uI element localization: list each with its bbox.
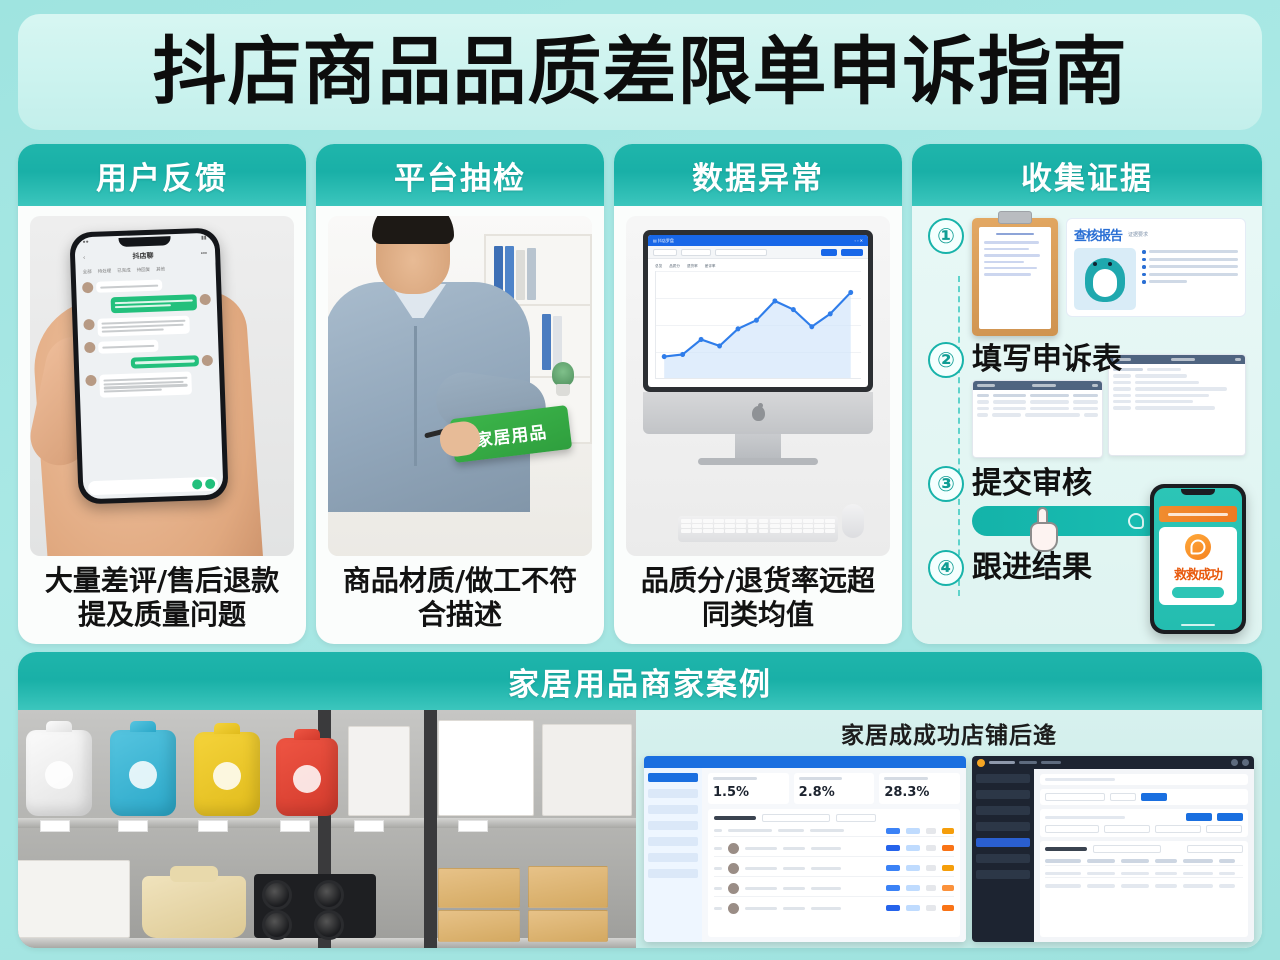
person-hair: [372, 216, 454, 244]
avatar: [202, 355, 213, 366]
sidebar-item-appeals[interactable]: [648, 837, 698, 846]
retail-shelf-products-photo: [18, 710, 636, 948]
avatar: [83, 318, 94, 329]
imac-stand-foot: [698, 458, 818, 465]
dashboard-tab-0[interactable]: 总览: [655, 264, 662, 269]
product-sign-label: 家居用品: [474, 417, 549, 451]
imac-analytics-chart-photo: ▤ 抖店罗盘 ▫ ▫ ✕: [626, 216, 890, 556]
plant-shape: [552, 362, 574, 386]
window-main: 1.5% 2.8% 28.3%: [644, 768, 966, 942]
success-phone-device: 救救成功: [1150, 484, 1246, 634]
product-jar-cyan: [110, 730, 176, 816]
stat-card: 1.5%: [708, 773, 789, 804]
plant-pot-shape: [556, 384, 570, 396]
table-row: [1045, 882, 1243, 889]
step-2-number: ②: [928, 342, 964, 378]
stat-cards-row: 1.5% 2.8% 28.3%: [708, 773, 960, 804]
page-title-panel: 抖店商品品质差限单申诉指南: [18, 14, 1262, 130]
step-4-label: 跟进结果: [972, 550, 1092, 586]
dashboard-tab-2[interactable]: 退货率: [687, 264, 698, 269]
export-button[interactable]: [841, 249, 863, 256]
date-pill[interactable]: [681, 249, 711, 256]
card-data-anomaly: 数据异常 ▤ 抖店罗盘 ▫ ▫ ✕: [614, 144, 902, 644]
product-package: [542, 724, 632, 816]
appeal-steps-illustration: ① 查核报告: [924, 216, 1250, 636]
tab-3[interactable]: 待回复: [137, 267, 151, 273]
stat-value: 1.5%: [713, 785, 784, 800]
chat-message: [83, 314, 212, 337]
window-body: [973, 390, 1102, 421]
success-banner: [1159, 506, 1237, 522]
table-filter-button[interactable]: [836, 814, 876, 822]
filter-select-3[interactable]: [1155, 825, 1201, 833]
step-1-number: ①: [928, 218, 964, 254]
evidence-report-card: 查核报告 证据要求: [1066, 218, 1246, 317]
penguin-eye-left: [1093, 262, 1097, 266]
phone-device: ●●▮▮ ‹ 抖店聊 ••• 全部 待处理 已完成 待回复 其他: [69, 227, 228, 504]
message-bubble: [97, 315, 190, 337]
step-2-artwork: [972, 380, 1246, 458]
tab-4[interactable]: 其他: [156, 266, 165, 272]
avatar: [200, 294, 211, 305]
cardboard-box: [438, 910, 520, 942]
sidebar-item-overview[interactable]: [976, 774, 1030, 783]
clipboard: [972, 218, 1058, 336]
shirt-buttons: [414, 326, 417, 466]
step-3-number: ③: [928, 466, 964, 502]
bullet-item: [1142, 250, 1238, 254]
dashboard-tab-3[interactable]: 差评率: [705, 264, 716, 269]
export-button[interactable]: [1217, 813, 1243, 821]
chat-message: [83, 294, 211, 314]
line-chart-svg: [656, 271, 861, 378]
table-row: [714, 841, 954, 857]
success-text: 救救成功: [1174, 564, 1222, 583]
breadcrumb-bar: [1040, 774, 1248, 785]
success-phone-screen: 救救成功: [1154, 488, 1242, 630]
appeal-admin-window: [972, 756, 1254, 942]
imac-device: ▤ 抖店罗盘 ▫ ▫ ✕: [643, 230, 873, 465]
filter-select-2[interactable]: [1104, 825, 1150, 833]
chat-app-title: 抖店聊: [132, 251, 153, 262]
table-row: [714, 881, 954, 897]
bullet-item: [1142, 280, 1238, 284]
table-row: [1045, 870, 1243, 878]
bullet-item: [1142, 273, 1238, 277]
cardboard-box: [438, 868, 520, 908]
send-button[interactable]: [192, 479, 202, 489]
sidebar-item-data[interactable]: [976, 854, 1030, 863]
chat-message: [84, 338, 212, 354]
card-caption: 品质分/退货率远超同类均值: [626, 556, 890, 636]
phone-notch: [1181, 489, 1215, 495]
line-chart: [655, 271, 861, 379]
table-row: [714, 826, 954, 837]
home-indicator: [1181, 624, 1215, 627]
case-study-header: 家居用品商家案例: [18, 652, 1262, 710]
case-study-header-label: 家居用品商家案例: [508, 659, 772, 704]
sidebar-item-products[interactable]: [648, 805, 698, 814]
page-title: 抖店商品品质差限单申诉指南: [153, 35, 1128, 109]
evidence-card-subtitle: 证据要求: [1128, 231, 1148, 238]
keyboard: [678, 516, 838, 542]
reset-button[interactable]: [1110, 793, 1136, 801]
clipboard-clip-icon: [998, 211, 1032, 224]
filter-select-1[interactable]: [1045, 825, 1099, 833]
chat-message: [85, 371, 214, 398]
sidebar-item-orders[interactable]: [976, 790, 1030, 799]
window-titlebar: [972, 756, 1254, 769]
sidebar-item-home[interactable]: [648, 773, 698, 782]
appeal-list-window: [972, 380, 1103, 458]
chat-message: [85, 355, 213, 371]
card-body-collect-evidence: ① 查核报告: [912, 206, 1262, 644]
sidebar-item-orders[interactable]: [648, 789, 698, 798]
card-header-platform-inspection: 平台抽检: [316, 144, 604, 206]
merchant-dashboard-window: 1.5% 2.8% 28.3%: [644, 756, 966, 942]
message-bubble: [98, 340, 158, 353]
card-header-label: 平台抽检: [394, 153, 526, 198]
sidebar: [644, 768, 702, 942]
dashboard-tab-1[interactable]: 品质分: [669, 264, 680, 269]
stat-value: 28.3%: [884, 785, 955, 800]
dashboard-titlebar-label: ▤ 抖店罗盘: [653, 238, 674, 244]
batch-button[interactable]: [1186, 813, 1212, 821]
bullet-item: [1142, 258, 1238, 262]
success-card: 救救成功: [1159, 527, 1237, 605]
avatar: [82, 282, 93, 293]
case-study-section: 家居用品商家案例: [18, 652, 1262, 948]
table-toolbar: [714, 814, 954, 822]
card-header-data-anomaly: 数据异常: [614, 144, 902, 206]
product-package: [438, 720, 534, 816]
evidence-bullet-list: [1142, 248, 1238, 310]
step-1-row: ① 查核报告: [928, 218, 1246, 336]
filter-select-4[interactable]: [1206, 825, 1242, 833]
product-pot-cream: [142, 876, 246, 938]
phone-notch: [119, 236, 171, 247]
phone-screen: ●●▮▮ ‹ 抖店聊 ••• 全部 待处理 已完成 待回复 其他: [74, 233, 223, 500]
apple-logo-icon: [752, 406, 765, 421]
product-jar-yellow: [194, 732, 260, 816]
app-logo-icon: [977, 759, 985, 767]
table-header-row: [1045, 857, 1243, 865]
card-platform-inspection: 平台抽检: [316, 144, 604, 644]
evidence-card-body: [1074, 248, 1238, 310]
step-1-artwork: 查核报告 证据要求: [972, 218, 1246, 336]
penguin-belly: [1093, 269, 1117, 297]
sidebar-item-goods[interactable]: [976, 806, 1030, 815]
more-icon[interactable]: •••: [201, 251, 208, 257]
search-input[interactable]: [1045, 793, 1105, 801]
bullet-dot-icon: [1142, 280, 1146, 284]
success-confirm-button[interactable]: [1172, 587, 1224, 598]
sidebar-item-quality[interactable]: [648, 821, 698, 830]
table-search-input[interactable]: [762, 814, 830, 822]
inspector-holding-sign-photo: 家居用品: [328, 216, 592, 556]
card-header-user-feedback: 用户反馈: [18, 144, 306, 206]
mouse: [842, 504, 864, 538]
evidence-card-title: 查核报告: [1074, 225, 1122, 244]
stat-card: 2.8%: [794, 773, 875, 804]
step-4-number: ④: [928, 550, 964, 586]
product-package: [348, 726, 410, 816]
imac-bezel: ▤ 抖店罗盘 ▫ ▫ ✕: [643, 230, 873, 392]
step-2-row: ② 填写申诉表: [928, 342, 1246, 378]
step-3-artwork: [972, 506, 1172, 542]
appeal-table-card: [1040, 841, 1248, 937]
card-collect-evidence: 收集证据 ①: [912, 144, 1262, 644]
hand-cursor-icon: [1028, 508, 1062, 554]
evidence-card-header: 查核报告 证据要求: [1074, 225, 1238, 244]
dashboard-titlebar: ▤ 抖店罗盘 ▫ ▫ ✕: [648, 235, 868, 246]
card-header-label: 用户反馈: [96, 153, 228, 198]
query-button[interactable]: [821, 249, 837, 256]
select-pill[interactable]: [715, 249, 767, 256]
stat-card: 28.3%: [879, 773, 960, 804]
card-header-label: 收集证据: [1021, 153, 1153, 198]
avatar: [84, 342, 95, 353]
columns-container: 用户反馈 ●●▮▮ ‹ 抖店聊 ••• 全部: [18, 144, 1262, 644]
shelf-upright: [424, 710, 437, 948]
imac-stand-neck: [735, 434, 781, 458]
data-table-card: [708, 809, 960, 937]
window-titlebar: [644, 756, 966, 768]
back-icon[interactable]: ‹: [83, 255, 85, 261]
window-main: [972, 769, 1254, 942]
card-header-collect-evidence: 收集证据: [912, 144, 1262, 206]
bullet-item: [1142, 265, 1238, 269]
penguin-eye-right: [1108, 262, 1112, 266]
clipboard-paper: [979, 227, 1051, 329]
step-3-label: 提交审核: [972, 466, 1092, 502]
penguin-mascot-icon: [1074, 248, 1136, 310]
case-dashboards-panel: 家居成成功店铺后逄: [636, 710, 1262, 948]
card-body-data-anomaly: ▤ 抖店罗盘 ▫ ▫ ✕: [614, 206, 902, 644]
sidebar: [972, 769, 1034, 942]
message-bubble: [96, 279, 162, 293]
filter-pill[interactable]: [653, 249, 677, 256]
sidebar-item-settings[interactable]: [648, 869, 698, 878]
cardboard-box: [528, 910, 608, 942]
dashboard-toolbar: [648, 246, 868, 259]
case-study-body: 家居成成功店铺后逄: [18, 710, 1262, 948]
message-bubble: [99, 372, 192, 398]
chat-message: [82, 278, 210, 294]
product-jar-white: [26, 730, 92, 816]
success-check-icon: [1185, 534, 1211, 560]
card-body-user-feedback: ●●▮▮ ‹ 抖店聊 ••• 全部 待处理 已完成 待回复 其他: [18, 206, 306, 644]
table-title: [714, 816, 756, 820]
hand-holding-phone-chat-photo: ●●▮▮ ‹ 抖店聊 ••• 全部 待处理 已完成 待回复 其他: [30, 216, 294, 556]
card-body-platform-inspection: 家居用品 商品材质/做工不符合描述: [316, 206, 604, 644]
content-area: [1034, 769, 1254, 942]
slider-badge-icon: [1128, 513, 1144, 529]
avatar: [85, 375, 96, 386]
card-caption: 商品材质/做工不符合描述: [328, 556, 592, 636]
message-bubble: [111, 295, 197, 313]
bullet-dot-icon: [1142, 265, 1146, 269]
sidebar-item-account[interactable]: [976, 870, 1030, 879]
imac-chin: [643, 392, 873, 434]
chat-messages: [76, 274, 220, 403]
window-titlebar: [973, 381, 1102, 390]
product-jar-red: [276, 738, 338, 816]
emoji-button[interactable]: [205, 479, 215, 489]
card-caption: 大量差评/售后退款提及质量问题: [30, 556, 294, 636]
bullet-dot-icon: [1142, 250, 1146, 254]
card-header-label: 数据异常: [692, 153, 824, 198]
content-area: 1.5% 2.8% 28.3%: [702, 768, 966, 942]
product-pot-lid: [170, 866, 218, 882]
bullet-dot-icon: [1142, 273, 1146, 277]
card-user-feedback: 用户反馈 ●●▮▮ ‹ 抖店聊 ••• 全部: [18, 144, 306, 644]
search-bar: [1040, 789, 1248, 805]
tab-2[interactable]: 已完成: [117, 268, 131, 274]
product-box-white: [18, 860, 130, 938]
chat-input-bar[interactable]: [88, 477, 218, 496]
case-dashboards-title: 家居成成功店铺后逄: [644, 716, 1254, 750]
window-controls[interactable]: ▫ ▫ ✕: [855, 238, 863, 243]
sidebar-item-reports[interactable]: [648, 853, 698, 862]
search-button[interactable]: [1141, 793, 1167, 801]
stat-value: 2.8%: [799, 785, 870, 800]
sidebar-item-appeal[interactable]: [976, 838, 1030, 847]
tab-1[interactable]: 待处理: [98, 268, 112, 274]
table-row: [714, 861, 954, 877]
dashboards-row: 1.5% 2.8% 28.3%: [644, 756, 1254, 942]
table-row: [714, 901, 954, 916]
imac-screen: ▤ 抖店罗盘 ▫ ▫ ✕: [648, 235, 868, 387]
dashboard-tabs: 总览 品质分 退货率 差评率: [648, 259, 868, 271]
bullet-dot-icon: [1142, 258, 1146, 262]
tab-0[interactable]: 全部: [83, 269, 92, 275]
filters-bar: [1040, 809, 1248, 837]
step-2-label: 填写申诉表: [972, 342, 1122, 378]
cardboard-box: [528, 866, 608, 908]
message-bubble: [131, 355, 199, 369]
sidebar-item-service[interactable]: [976, 822, 1030, 831]
submit-slider-button[interactable]: [972, 506, 1162, 536]
